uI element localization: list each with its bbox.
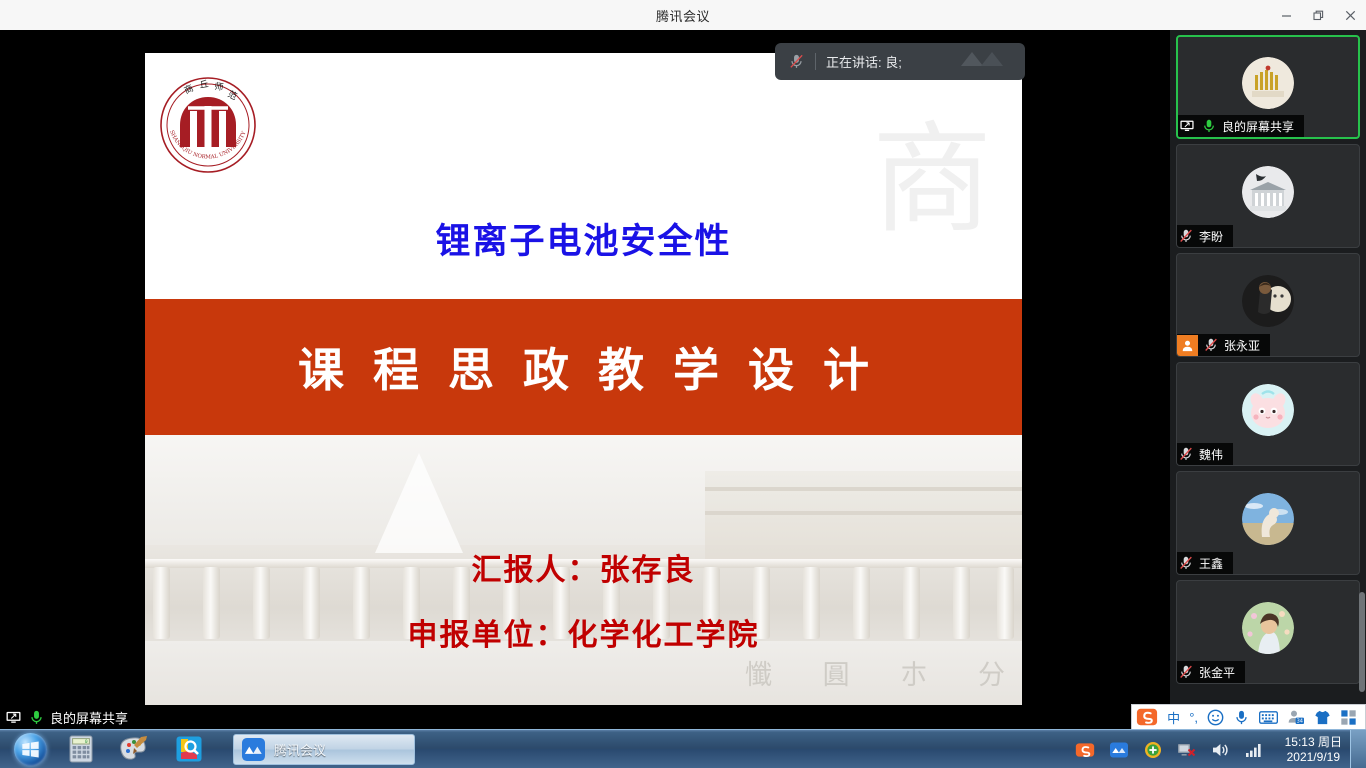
toolbox-icon[interactable] [1340,709,1357,726]
avatar [1242,166,1294,218]
seal-char-2: 圓 [823,653,850,692]
minimize-button[interactable] [1270,0,1302,30]
network-error-icon[interactable] [1177,740,1197,760]
seal-char-1: 懺 [745,653,772,692]
quick-launch-group: 0 [64,732,206,766]
start-orb[interactable] [4,731,56,768]
svg-text:丘: 丘 [199,79,210,91]
soft-keyboard-icon[interactable] [1259,710,1278,725]
taskbar-button-label: 腾讯会议 [274,740,326,759]
slide-footer-section: 懺 圓 朩 分 汇报人：张存良 申报单位：化学化工学院 [145,435,1022,705]
avatar [1242,384,1294,436]
participant-name-bar: 良的屏幕共享 [1178,115,1304,137]
avatar [1242,602,1294,654]
participant-name: 李盼 [1199,228,1227,245]
participant-name-bar: 王鑫 [1177,552,1233,574]
avatar [1242,275,1294,327]
mic-muted-icon [787,53,805,71]
sogou-logo-icon[interactable] [1136,706,1158,728]
university-logo-icon: 商 丘 师 范 SHANGQIU NORMAL UNIVERSITY [158,75,258,175]
slide-presenter-line: 汇报人：张存良 [145,545,1022,589]
participant-tile-2[interactable]: 张永亚 [1176,253,1360,357]
participant-tile-1[interactable]: 李盼 [1176,144,1360,248]
avatar [1242,493,1294,545]
calculator-icon[interactable]: 0 [64,732,98,766]
seal-char-3: 朩 [900,653,927,692]
tencent-meeting-icon [242,738,265,761]
mic-on-icon [1200,117,1218,135]
voice-input-icon[interactable] [1233,709,1250,726]
update-icon[interactable] [1143,740,1163,760]
mic-muted-icon [1177,554,1195,572]
participant-name-bar: 李盼 [1177,225,1233,247]
participant-strip[interactable]: 良的屏幕共享 [1170,30,1366,705]
participant-name-bar: 魏伟 [1177,443,1233,465]
skin-icon[interactable] [1314,709,1331,726]
maximize-button[interactable] [1302,0,1334,30]
clock-time: 15:13 周日 [1285,735,1342,750]
shared-screen-area[interactable]: 商 商 丘 师 范 S [0,30,1170,705]
participant-tile-3[interactable]: 魏伟 [1176,362,1360,466]
taskbar-clock[interactable]: 15:13 周日 2021/9/19 [1279,735,1342,765]
participant-tile-0[interactable]: 良的屏幕共享 [1176,35,1360,139]
slide-header-section: 商 商 丘 师 范 S [145,53,1022,299]
search-app-icon[interactable] [172,732,206,766]
windows-taskbar: 0 [0,729,1366,768]
sogou-ime-toolbar[interactable]: 中 °, 34 [1131,704,1366,730]
participant-name-bar: 张永亚 [1177,334,1270,356]
seal-script-watermark: 懺 圓 朩 分 [745,653,1005,692]
pill-divider [815,53,816,70]
share-status-group: 良的屏幕共享 [0,708,128,727]
participant-strip-scrollbar[interactable] [1359,592,1365,692]
participant-name: 良的屏幕共享 [1222,118,1298,135]
seal-char-4: 分 [978,653,1005,692]
participant-name: 张金平 [1199,664,1239,681]
signal-icon[interactable] [1245,740,1265,760]
presentation-slide: 商 商 丘 师 范 S [145,53,1022,705]
clock-date: 2021/9/19 [1285,750,1342,765]
slide-title: 锂离子电池安全性 [145,213,1022,264]
show-desktop-button[interactable] [1350,730,1366,768]
participant-tile-4[interactable]: 王鑫 [1176,471,1360,575]
meeting-window-body: 商 商 丘 师 范 S [0,30,1366,705]
tencent-meeting-logo-icon [957,48,1013,75]
active-speaker-text: 正在讲话: 良; [826,52,902,71]
participant-name: 魏伟 [1199,446,1227,463]
svg-text:34: 34 [1297,719,1303,725]
sogou-tray-icon[interactable] [1075,740,1095,760]
slide-unit-line: 申报单位：化学化工学院 [145,610,1022,654]
system-tray: 15:13 周日 2021/9/19 [1075,730,1342,768]
volume-icon[interactable] [1211,740,1231,760]
participant-name: 王鑫 [1199,555,1227,572]
chinese-mode-icon[interactable]: 中 [1167,708,1180,727]
mic-muted-icon [1177,663,1195,681]
punctuation-mode-icon[interactable]: °, [1189,710,1198,725]
share-status-text: 良的屏幕共享 [50,708,128,727]
slide-banner-text: 课程思政教学设计 [269,334,898,400]
window-title: 腾讯会议 [656,6,710,25]
emoji-icon[interactable] [1207,709,1224,726]
participant-tile-5[interactable]: 张金平 [1176,580,1360,684]
participant-name-bar: 张金平 [1177,661,1245,683]
slide-banner: 课程思政教学设计 [145,299,1022,435]
window-controls [1270,0,1366,30]
participant-name: 张永亚 [1224,337,1264,354]
svg-text:0: 0 [85,739,88,745]
window-title-bar: 腾讯会议 [0,0,1366,30]
screen-share-icon [1178,117,1196,135]
campus-photo-sail [375,453,463,553]
active-speaker-banner: 正在讲话: 良; [775,43,1025,80]
tencent-meeting-tray-icon[interactable] [1109,740,1129,760]
avatar [1242,57,1294,109]
taskbar-button-tencent-meeting[interactable]: 腾讯会议 [233,734,415,765]
screen-share-icon [4,708,22,726]
mic-muted-icon [1177,227,1195,245]
user-profile-icon[interactable]: 34 [1287,709,1305,725]
close-button[interactable] [1334,0,1366,30]
paint-icon[interactable] [118,732,152,766]
host-badge-icon [1177,335,1198,356]
mic-on-icon [27,708,45,726]
mic-muted-icon [1202,336,1220,354]
mic-muted-icon [1177,445,1195,463]
